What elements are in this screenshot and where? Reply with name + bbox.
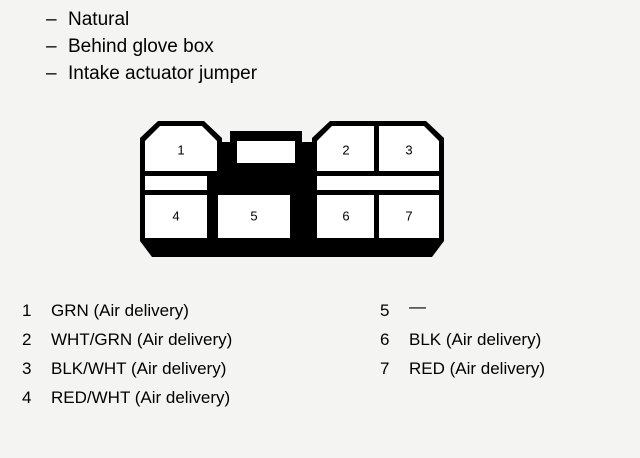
list-item: 5 —	[380, 296, 545, 325]
legend-pin-label: WHT/GRN (Air delivery)	[51, 325, 232, 354]
legend-pin-label: BLK/WHT (Air delivery)	[51, 354, 226, 383]
legend-pin-number: 6	[380, 325, 409, 354]
pin-number-7: 7	[405, 208, 412, 223]
mid-band-left	[145, 176, 207, 190]
legend-pin-number: 5	[380, 296, 409, 325]
legend-pin-label: RED (Air delivery)	[409, 354, 545, 383]
pin-number-3: 3	[405, 142, 412, 157]
legend-pin-number: 3	[22, 354, 51, 383]
dash-bullet-icon: –	[46, 6, 68, 33]
list-item: 2 WHT/GRN (Air delivery)	[22, 325, 232, 354]
mid-band-right	[317, 176, 439, 190]
legend-column-left: 1 GRN (Air delivery) 2 WHT/GRN (Air deli…	[22, 296, 232, 412]
pin-number-5: 5	[250, 208, 257, 223]
pin-number-2: 2	[342, 142, 349, 157]
legend-pin-number: 4	[22, 383, 51, 412]
dash-bullet-icon: –	[46, 33, 68, 60]
notes-list: – Natural – Behind glove box – Intake ac…	[46, 6, 566, 87]
pin-number-6: 6	[342, 208, 349, 223]
list-item: – Natural	[46, 6, 566, 33]
dash-bullet-icon: –	[46, 60, 68, 87]
legend-pin-number: 2	[22, 325, 51, 354]
legend-pin-number: 7	[380, 354, 409, 383]
legend-pin-label: BLK (Air delivery)	[409, 325, 541, 354]
list-item: 3 BLK/WHT (Air delivery)	[22, 354, 232, 383]
list-item: 7 RED (Air delivery)	[380, 354, 545, 383]
legend-pin-number: 1	[22, 296, 51, 325]
note-text: Intake actuator jumper	[68, 60, 257, 87]
note-text: Natural	[68, 6, 129, 33]
pin-number-4: 4	[172, 208, 179, 223]
pin-number-1: 1	[177, 142, 184, 157]
locking-tab-window	[237, 141, 295, 163]
list-item: 1 GRN (Air delivery)	[22, 296, 232, 325]
legend-pin-label: RED/WHT (Air delivery)	[51, 383, 230, 412]
note-text: Behind glove box	[68, 33, 214, 60]
list-item: – Behind glove box	[46, 33, 566, 60]
legend-column-right: 5 — 6 BLK (Air delivery) 7 RED (Air deli…	[380, 296, 545, 383]
list-item: 4 RED/WHT (Air delivery)	[22, 383, 232, 412]
list-item: – Intake actuator jumper	[46, 60, 566, 87]
list-item: 6 BLK (Air delivery)	[380, 325, 545, 354]
connector-diagram: 1 2 3 4 5 6 7	[136, 119, 448, 261]
legend-pin-label: GRN (Air delivery)	[51, 296, 189, 325]
legend-pin-label: —	[409, 292, 425, 321]
